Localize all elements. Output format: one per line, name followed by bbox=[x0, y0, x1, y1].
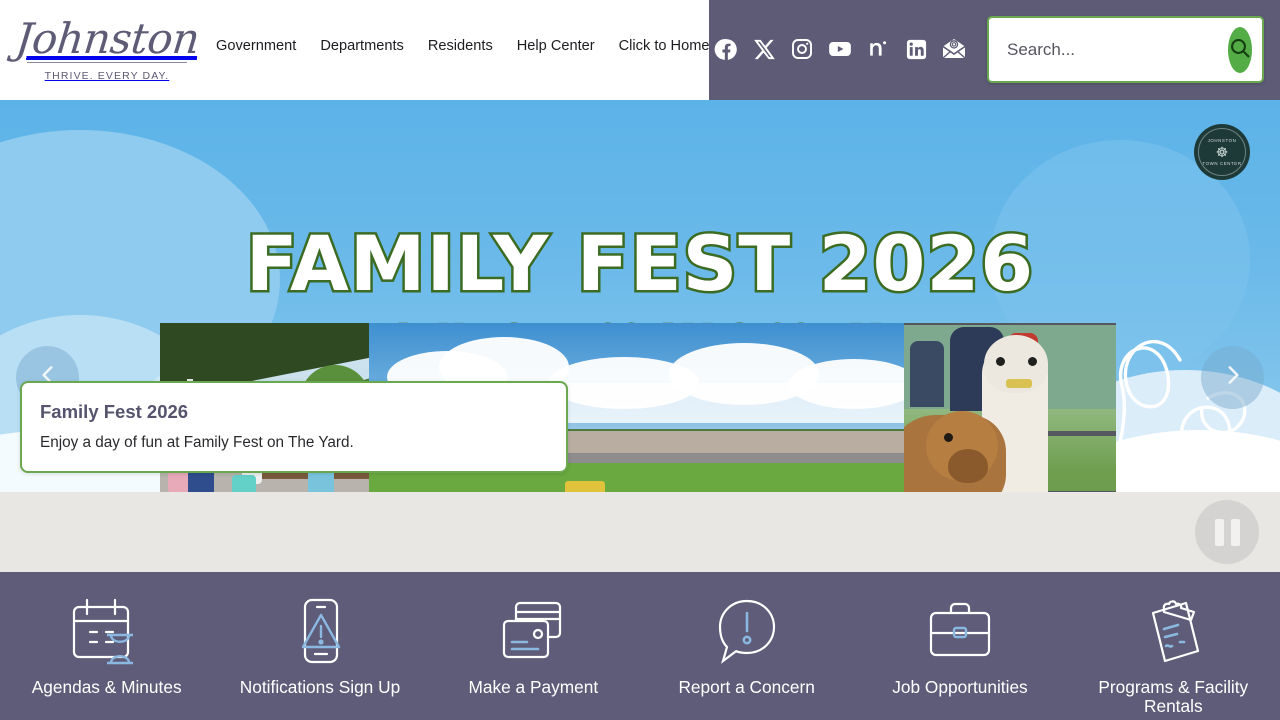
quick-link-notifications-sign-up[interactable]: Notifications Sign Up bbox=[213, 594, 426, 720]
hero-caption-title: Family Fest 2026 bbox=[40, 401, 548, 423]
carousel-control-strip bbox=[0, 492, 1280, 572]
quick-link-job-opportunities[interactable]: Job Opportunities bbox=[853, 594, 1066, 720]
search-icon bbox=[1228, 36, 1252, 63]
clipboard-form-icon bbox=[1134, 594, 1212, 670]
hero-caption-card[interactable]: Family Fest 2026 Enjoy a day of fun at F… bbox=[20, 381, 568, 473]
notify-me-email-icon[interactable] bbox=[941, 36, 967, 62]
instagram-icon[interactable] bbox=[789, 36, 815, 62]
hero-banner-title: FAMILY FEST 2026 bbox=[0, 226, 1280, 302]
quick-link-make-a-payment[interactable]: Make a Payment bbox=[427, 594, 640, 720]
pause-icon-bar-left bbox=[1215, 519, 1224, 546]
hero-photo-alpacas bbox=[904, 323, 1116, 492]
johnston-town-center-badge-icon: JOHNSTON ☸ TOWN CENTER bbox=[1194, 124, 1250, 180]
nav-government[interactable]: Government bbox=[216, 38, 296, 54]
search-input[interactable] bbox=[989, 40, 1228, 60]
linkedin-icon[interactable] bbox=[903, 36, 929, 62]
quick-link-agendas-minutes[interactable]: Agendas & Minutes bbox=[0, 594, 213, 720]
quick-link-label: Report a Concern bbox=[678, 678, 814, 697]
quick-link-programs-facility-rentals[interactable]: Programs & Facility Rentals bbox=[1067, 594, 1280, 720]
pause-icon-bar-right bbox=[1231, 519, 1240, 546]
carousel-pause-button[interactable] bbox=[1195, 500, 1259, 564]
nav-help-center[interactable]: Help Center bbox=[517, 38, 595, 54]
quick-link-report-a-concern[interactable]: Report a Concern bbox=[640, 594, 853, 720]
nav-click-to-home[interactable]: Click to Home bbox=[619, 38, 710, 54]
nextdoor-icon[interactable] bbox=[865, 36, 891, 62]
quick-link-label: Make a Payment bbox=[468, 678, 598, 697]
chevron-right-icon bbox=[1220, 362, 1246, 393]
search-button[interactable] bbox=[1228, 27, 1252, 73]
calendar-hourglass-icon bbox=[68, 594, 146, 670]
quick-link-label: Programs & Facility Rentals bbox=[1078, 678, 1268, 715]
site-header: Johnston THRIVE. EVERY DAY. Government D… bbox=[0, 0, 1280, 100]
hero-carousel: FAMILY FEST 2026 JUNE 6 11:00 AM-2:00 PM bbox=[0, 100, 1280, 492]
nav-residents[interactable]: Residents bbox=[428, 38, 493, 54]
speech-bubble-alert-icon bbox=[708, 594, 786, 670]
nav-departments[interactable]: Departments bbox=[320, 38, 404, 54]
social-links bbox=[713, 36, 967, 62]
main-navigation: Government Departments Residents Help Ce… bbox=[216, 38, 709, 54]
youtube-icon[interactable] bbox=[827, 36, 853, 62]
quick-link-label: Notifications Sign Up bbox=[240, 678, 400, 697]
site-logo[interactable]: Johnston THRIVE. EVERY DAY. bbox=[16, 6, 198, 94]
quick-links-bar: Agendas & Minutes Notifications Sign Up bbox=[0, 572, 1280, 720]
phone-alert-icon bbox=[281, 594, 359, 670]
credit-cards-icon bbox=[494, 594, 572, 670]
briefcase-icon bbox=[921, 594, 999, 670]
search-bar[interactable] bbox=[987, 16, 1264, 83]
facebook-icon[interactable] bbox=[713, 36, 739, 62]
quick-link-label: Job Opportunities bbox=[892, 678, 1027, 697]
logo-wordmark: Johnston bbox=[13, 18, 200, 60]
carousel-next-button[interactable] bbox=[1201, 346, 1264, 409]
quick-link-label: Agendas & Minutes bbox=[32, 678, 182, 697]
hero-caption-text: Enjoy a day of fun at Family Fest on The… bbox=[40, 434, 548, 452]
x-twitter-icon[interactable] bbox=[751, 36, 777, 62]
logo-tagline: THRIVE. EVERY DAY. bbox=[45, 70, 170, 82]
